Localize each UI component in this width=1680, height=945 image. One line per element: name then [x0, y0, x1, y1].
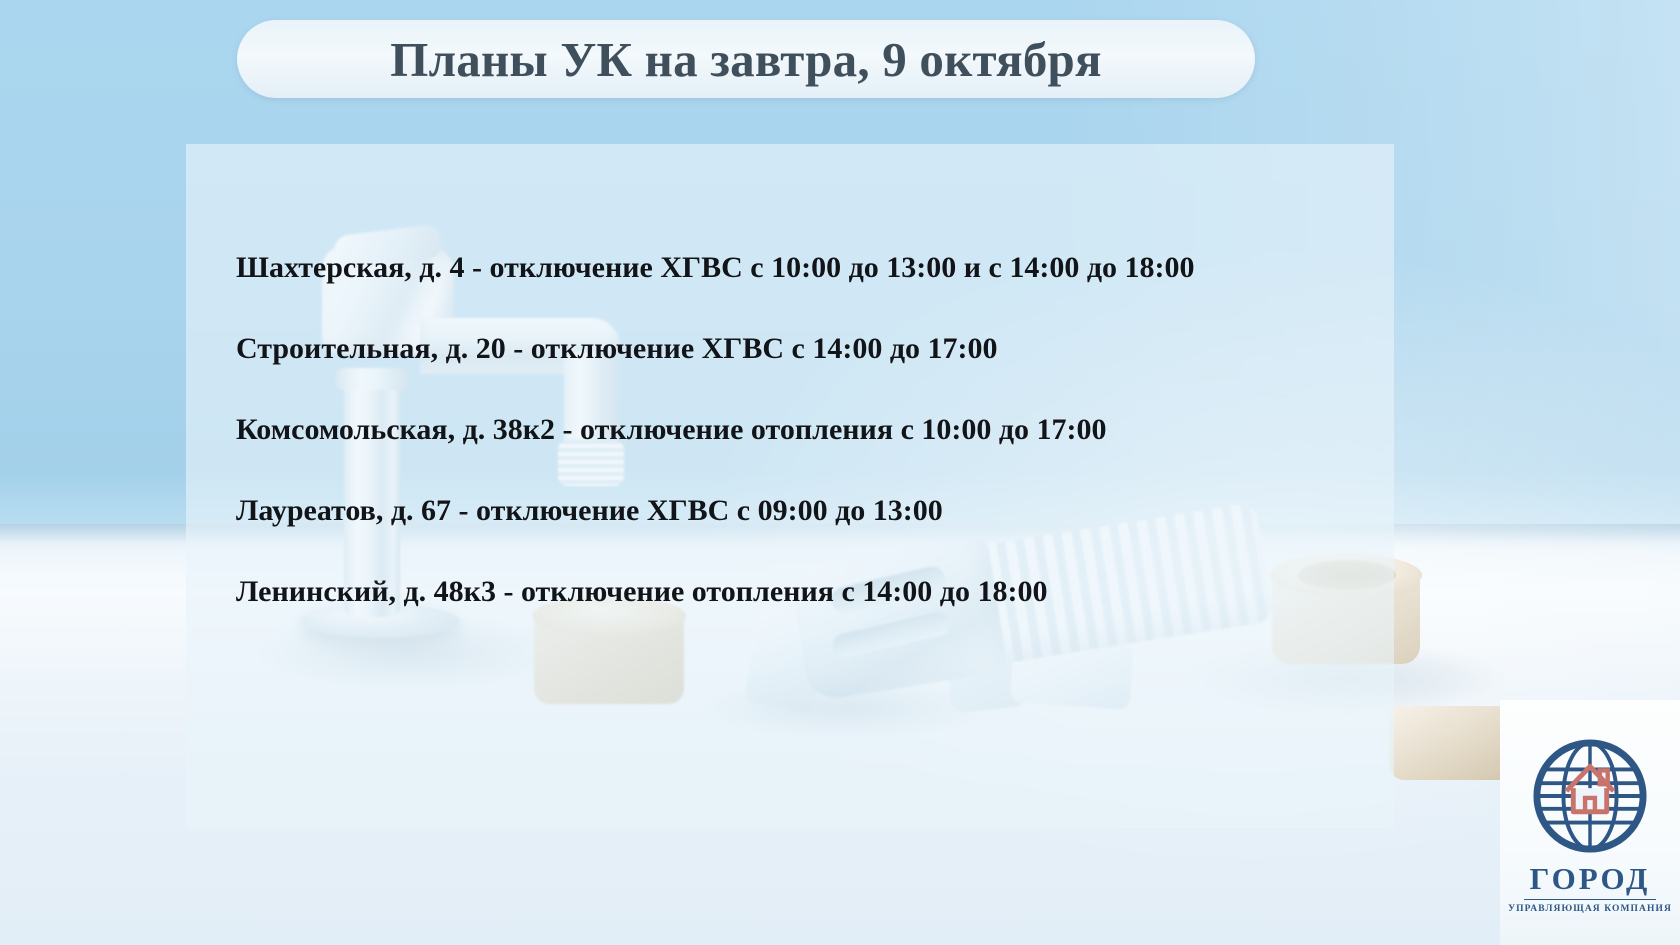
- notice-item: Комсомольская, д. 38к2 - отключение отоп…: [236, 410, 1356, 449]
- beige-stopper-object: [1390, 706, 1518, 780]
- company-logo: ГОРОД УПРАВЛЯЮЩАЯ КОМПАНИЯ: [1500, 700, 1680, 945]
- notice-item: Ленинский, д. 48к3 - отключение отоплени…: [236, 572, 1356, 611]
- logo-divider: [1524, 899, 1656, 901]
- notice-item: Лауреатов, д. 67 - отключение ХГВС с 09:…: [236, 491, 1356, 530]
- globe-house-icon: [1531, 737, 1649, 855]
- notice-item: Строительная, д. 20 - отключение ХГВС с …: [236, 329, 1356, 368]
- title-banner: Планы УК на завтра, 9 октября: [237, 20, 1255, 98]
- page-title: Планы УК на завтра, 9 октября: [390, 35, 1101, 84]
- logo-name: ГОРОД: [1530, 863, 1651, 894]
- notice-list: Шахтерская, д. 4 - отключение ХГВС с 10:…: [236, 248, 1356, 611]
- poster-canvas: Планы УК на завтра, 9 октября Шахтерская…: [0, 0, 1680, 945]
- notice-item: Шахтерская, д. 4 - отключение ХГВС с 10:…: [236, 248, 1356, 287]
- logo-tagline: УПРАВЛЯЮЩАЯ КОМПАНИЯ: [1508, 904, 1672, 914]
